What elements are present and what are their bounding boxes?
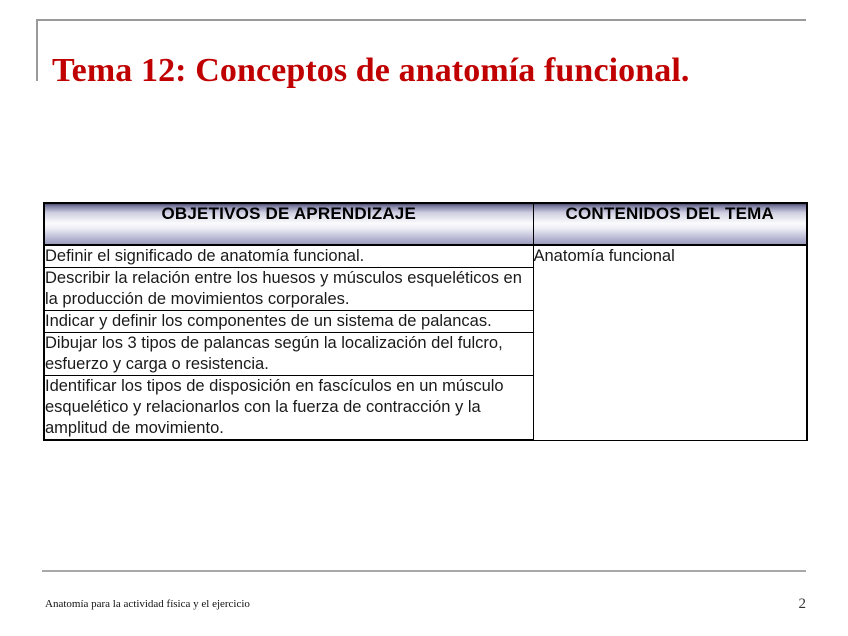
footer-divider <box>42 570 806 572</box>
objective-cell: Dibujar los 3 tipos de palancas según la… <box>44 333 533 376</box>
contents-cell: Anatomía funcional <box>533 245 807 440</box>
slide-top-divider <box>36 19 806 21</box>
page-title: Tema 12: Conceptos de anatomía funcional… <box>52 49 812 93</box>
objective-cell: Identificar los tipos de disposición en … <box>44 376 533 441</box>
slide-title-accent-bar <box>36 19 38 81</box>
objectives-table: OBJETIVOS DE APRENDIZAJE CONTENIDOS DEL … <box>43 202 808 441</box>
objective-cell: Definir el significado de anatomía funci… <box>44 245 533 268</box>
table-header-row: OBJETIVOS DE APRENDIZAJE CONTENIDOS DEL … <box>44 203 807 245</box>
objective-cell: Describir la relación entre los huesos y… <box>44 268 533 311</box>
page-number: 2 <box>799 596 807 613</box>
objective-cell: Indicar y definir los componentes de un … <box>44 311 533 333</box>
column-header-contenidos-del-tema: CONTENIDOS DEL TEMA <box>533 203 807 245</box>
footer-note: Anatomía para la actividad física y el e… <box>45 598 250 611</box>
table-row: Definir el significado de anatomía funci… <box>44 245 807 268</box>
column-header-objetivos-de-aprendizaje: OBJETIVOS DE APRENDIZAJE <box>44 203 533 245</box>
